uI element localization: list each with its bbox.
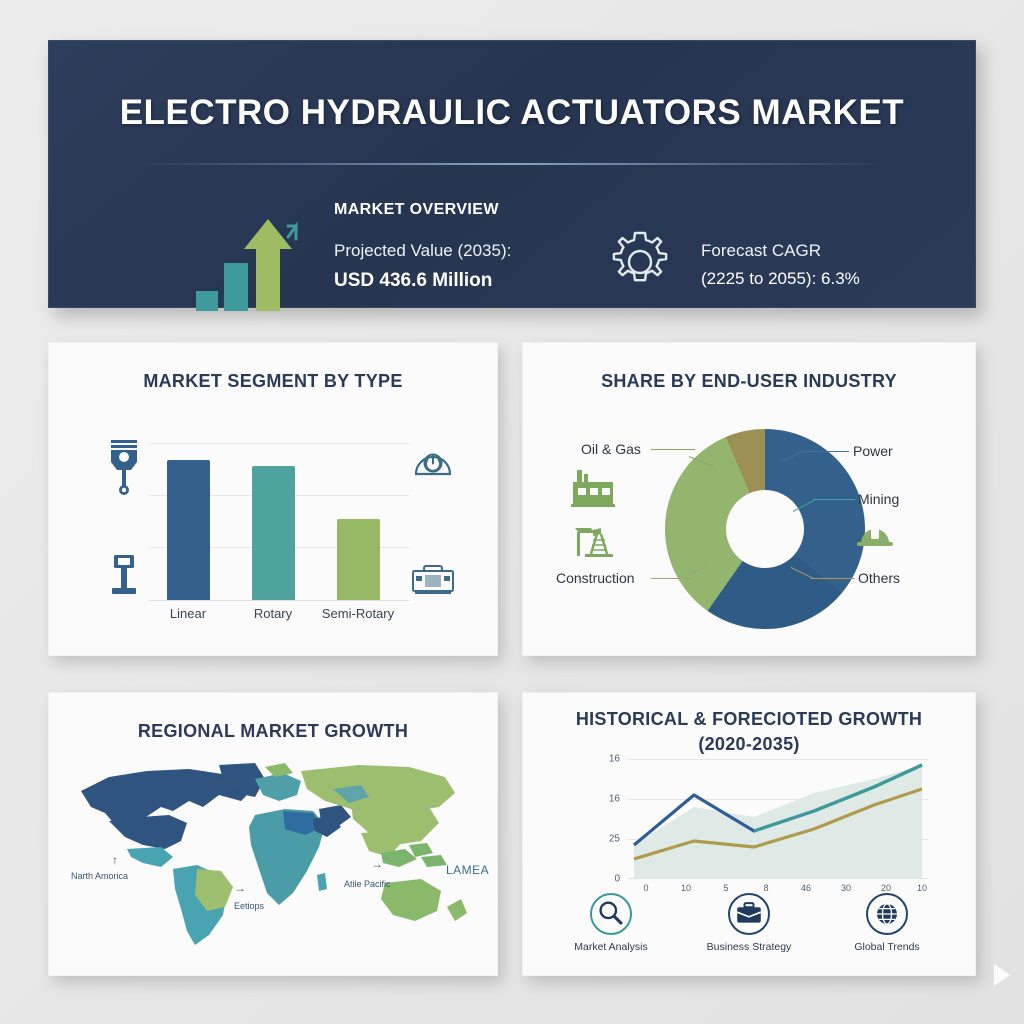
leader-power (801, 451, 849, 452)
ytick-2: 25 (609, 834, 620, 845)
growth-chart-title-line1: HISTORICAL & FORECIOTED GROWTH (523, 707, 975, 732)
donut-hole (726, 490, 804, 568)
title-divider (139, 163, 885, 165)
projected-value-amount: USD 436.6 Million (334, 270, 492, 292)
xtick-3: 8 (763, 883, 768, 893)
donut-label-mining: Mining (858, 491, 899, 507)
pressure-gauge-icon (413, 443, 453, 477)
briefcase-icon[interactable] (728, 893, 770, 935)
header-banner: ELECTRO HYDRAULIC ACTUATORS MARKET MARKE… (48, 40, 976, 308)
world-map (69, 749, 479, 954)
bar-label-rotary: Rotary (230, 606, 316, 621)
leader-construction (651, 578, 693, 579)
xtick-4: 46 (801, 883, 811, 893)
oil-pumpjack-icon (571, 518, 617, 560)
ytick-0: 16 (609, 754, 620, 765)
hydraulic-press-icon (109, 553, 139, 597)
region-chart-title: REGIONAL MARKET GROWTH (49, 721, 497, 742)
xtick-1: 10 (681, 883, 691, 893)
panel-market-segment: MARKET SEGMENT BY TYPE Linear Rota (48, 342, 498, 656)
panel-end-user-share: SHARE BY END-USER INDUSTRY Oil & Gas Con… (522, 342, 976, 656)
map-label-lamea: LAMEA (446, 863, 489, 877)
cagr-value: (2225 to 2055): 6.3% (701, 269, 860, 289)
panel-historical-growth: HISTORICAL & FORECIOTED GROWTH (2020-203… (522, 692, 976, 976)
bar-semi-rotary (337, 519, 380, 600)
xtick-6: 20 (881, 883, 891, 893)
cagr-label: Forecast CAGR (701, 241, 821, 261)
corner-triangle-decoration (994, 964, 1010, 986)
bar-label-linear: Linear (145, 606, 231, 621)
segment-chart-title: MARKET SEGMENT BY TYPE (49, 371, 497, 392)
leader-others (811, 578, 855, 579)
world-map-svg (69, 749, 479, 954)
bar-linear (167, 460, 210, 600)
growth-lines-svg (628, 759, 928, 879)
growth-chart-title-line2: (2020-2035) (523, 732, 975, 757)
icon-item-business-strategy[interactable]: Business Strategy (697, 893, 801, 953)
growth-icon-row: Market Analysis Business Strategy (523, 893, 975, 953)
leader-mining (813, 499, 855, 500)
map-arrow-north-america: ↑ (112, 853, 118, 867)
ytick-1: 16 (609, 794, 620, 805)
market-overview-label: MARKET OVERVIEW (334, 201, 499, 219)
icon-item-global-trends[interactable]: Global Trends (835, 893, 939, 953)
generator-icon (411, 565, 455, 595)
icon-item-market-analysis[interactable]: Market Analysis (559, 893, 663, 953)
globe-icon[interactable] (866, 893, 908, 935)
gear-icon (605, 227, 675, 297)
segment-bars-area: Linear Rotary Semi-Rotary (149, 443, 409, 601)
map-arrow-asia-pacific: → (371, 857, 383, 871)
map-label-eetiops: Eetiops (234, 901, 264, 911)
growth-plot-area: 16 16 25 0 0 10 5 8 46 30 20 10 (628, 759, 928, 879)
icon-label-global-trends: Global Trends (835, 941, 939, 953)
share-chart-title: SHARE BY END-USER INDUSTRY (523, 371, 975, 392)
donut-label-construction: Construction (556, 570, 635, 586)
magnifier-icon[interactable] (590, 893, 632, 935)
map-label-north-america: Narth Amorica (71, 871, 128, 881)
panel-regional-growth: REGIONAL MARKET GROWTH (48, 692, 498, 976)
growth-chart-title: HISTORICAL & FORECIOTED GROWTH (2020-203… (523, 707, 975, 757)
bar-label-semi-rotary: Semi-Rotary (315, 606, 401, 621)
xtick-5: 30 (841, 883, 851, 893)
donut-label-others: Others (858, 570, 900, 586)
bar-rotary (252, 466, 295, 600)
map-label-doivnca: Doivnca (211, 777, 244, 787)
donut-label-oil-gas: Oil & Gas (581, 441, 641, 457)
xtick-2: 5 (723, 883, 728, 893)
icon-label-market-analysis: Market Analysis (559, 941, 663, 953)
ytick-3: 0 (614, 874, 620, 885)
projected-value-label: Projected Value (2035): (334, 241, 511, 261)
donut-label-power: Power (853, 443, 893, 459)
xtick-7: 10 (917, 883, 927, 893)
page-title: ELECTRO HYDRAULIC ACTUATORS MARKET (49, 93, 975, 133)
piston-icon (107, 438, 141, 498)
xtick-0: 0 (643, 883, 648, 893)
map-label-asia-pacific: Atile Pacific (344, 879, 391, 889)
factory-icon (571, 468, 615, 508)
leader-oil-gas (651, 449, 695, 450)
map-arrow-eetiops: → (234, 881, 246, 895)
icon-label-business-strategy: Business Strategy (697, 941, 801, 953)
hard-hat-icon (855, 523, 895, 551)
growth-bar-arrow-icon (194, 209, 304, 313)
infographic-canvas: ELECTRO HYDRAULIC ACTUATORS MARKET MARKE… (0, 0, 1024, 1024)
